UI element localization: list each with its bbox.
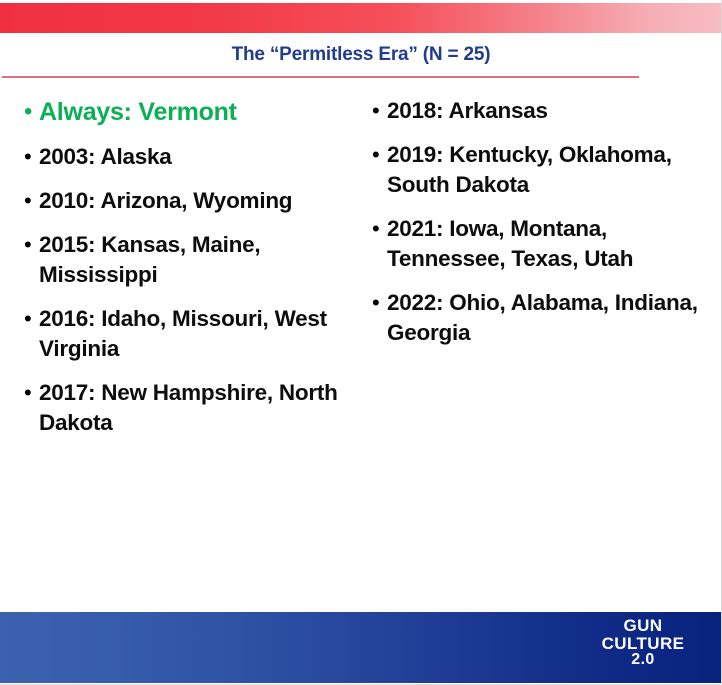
bullet-item: •2018: Arkansas <box>372 96 710 126</box>
bullet-item: •2015: Kansas, Maine, Mississippi <box>24 230 354 290</box>
bullet-item: •2019: Kentucky, Oklahoma, South Dakota <box>372 140 710 200</box>
bullet-dot-icon: • <box>372 214 387 244</box>
bullet-text: 2017: New Hampshire, North Dakota <box>39 378 354 438</box>
bullet-dot-icon: • <box>24 230 39 260</box>
bullet-text: 2016: Idaho, Missouri, West Virginia <box>39 304 354 364</box>
bullet-dot-icon: • <box>372 140 387 170</box>
bullet-column-right: •2018: Arkansas•2019: Kentucky, Oklahoma… <box>372 96 710 362</box>
bullet-text: 2003: Alaska <box>39 142 354 172</box>
slide-canvas: The “Permitless Era” (N = 25) •Always: V… <box>0 0 722 685</box>
bullet-item: •2017: New Hampshire, North Dakota <box>24 378 354 438</box>
slide-body: •Always: Vermont•2003: Alaska•2010: Ariz… <box>0 96 722 601</box>
bullet-dot-icon: • <box>372 288 387 318</box>
bullet-dot-icon: • <box>24 96 39 128</box>
bullet-item: •2021: Iowa, Montana, Tennessee, Texas, … <box>372 214 710 274</box>
bullet-text: 2010: Arizona, Wyoming <box>39 186 354 216</box>
bullet-text: 2022: Ohio, Alabama, Indiana, Georgia <box>387 288 710 348</box>
bullet-dot-icon: • <box>24 378 39 408</box>
title-area: The “Permitless Era” (N = 25) <box>0 40 722 74</box>
bullet-item: •2010: Arizona, Wyoming <box>24 186 354 216</box>
title-underline-rule <box>2 76 639 78</box>
bullet-text: 2018: Arkansas <box>387 96 710 126</box>
logo-line-culture: CULTURE <box>589 635 697 653</box>
bullet-text: 2021: Iowa, Montana, Tennessee, Texas, U… <box>387 214 710 274</box>
bullet-item: •2022: Ohio, Alabama, Indiana, Georgia <box>372 288 710 348</box>
logo-line-gun: GUN <box>589 617 697 635</box>
bullet-column-left: •Always: Vermont•2003: Alaska•2010: Ariz… <box>24 96 354 452</box>
bullet-dot-icon: • <box>24 142 39 172</box>
logo-line-version: 2.0 <box>589 652 697 669</box>
bullet-dot-icon: • <box>372 96 387 126</box>
bullet-item: •2003: Alaska <box>24 142 354 172</box>
bullet-text: Always: Vermont <box>39 96 354 128</box>
bullet-dot-icon: • <box>24 304 39 334</box>
bullet-text: 2015: Kansas, Maine, Mississippi <box>39 230 354 290</box>
page-title: The “Permitless Era” (N = 25) <box>232 40 491 70</box>
top-red-banner <box>0 3 722 33</box>
gun-culture-logo: GUN CULTURE 2.0 <box>589 617 697 669</box>
bullet-item: •Always: Vermont <box>24 96 354 128</box>
bullet-dot-icon: • <box>24 186 39 216</box>
bullet-text: 2019: Kentucky, Oklahoma, South Dakota <box>387 140 710 200</box>
bullet-item: •2016: Idaho, Missouri, West Virginia <box>24 304 354 364</box>
